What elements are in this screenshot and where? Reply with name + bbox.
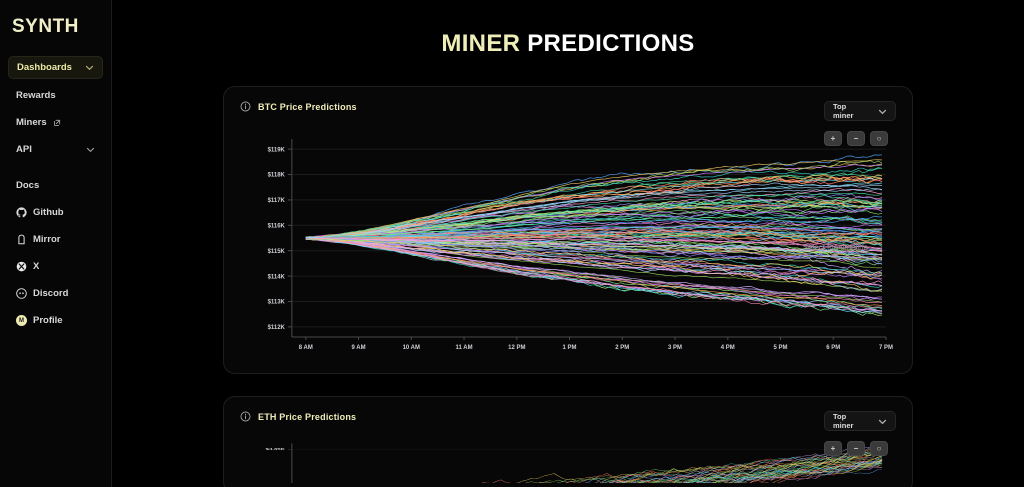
page-title-rest: PREDICTIONS: [527, 30, 694, 57]
discord-icon: [16, 288, 27, 299]
card-header: BTC Price Predictions Top miner: [240, 101, 896, 125]
svg-text:11 AM: 11 AM: [456, 345, 473, 351]
mirror-icon: [16, 234, 27, 245]
sidebar-item-label: Mirror: [33, 234, 60, 245]
svg-text:$114K: $114K: [268, 274, 286, 280]
github-icon: [16, 207, 27, 218]
card-title-eth: ETH Price Predictions: [240, 411, 356, 422]
svg-text:$118K: $118K: [268, 173, 286, 179]
page-title-accent: MINER: [441, 30, 520, 57]
card-title-btc: BTC Price Predictions: [240, 101, 357, 112]
zoom-in-button[interactable]: +: [824, 441, 842, 456]
chart-eth[interactable]: + − ○ $4.35K: [240, 441, 896, 483]
sidebar-item-rewards[interactable]: Rewards: [8, 85, 103, 106]
sidebar-item-dashboards[interactable]: Dashboards: [8, 56, 103, 79]
sidebar-item-label: Discord: [33, 288, 68, 299]
zoom-reset-button[interactable]: ○: [870, 131, 888, 146]
external-link-icon: [53, 119, 61, 127]
card-title-label: BTC Price Predictions: [258, 102, 357, 112]
miner-select-eth[interactable]: Top miner: [824, 411, 896, 431]
app-root: SYNTH Dashboards Rewards Miners API Docs: [0, 0, 1024, 487]
avatar: M: [16, 315, 27, 326]
svg-text:7 PM: 7 PM: [879, 345, 893, 351]
page-title: MINER PREDICTIONS: [112, 0, 1024, 58]
card-header: ETH Price Predictions Top miner: [240, 411, 896, 435]
sidebar: SYNTH Dashboards Rewards Miners API Docs: [0, 0, 112, 487]
card-btc-price-predictions: BTC Price Predictions Top miner + − ○ $1…: [223, 86, 913, 374]
miner-select-btc[interactable]: Top miner: [824, 101, 896, 121]
svg-text:3 PM: 3 PM: [668, 345, 682, 351]
sidebar-item-label: Github: [33, 207, 64, 218]
svg-text:$115K: $115K: [268, 249, 286, 255]
svg-text:12 PM: 12 PM: [508, 345, 525, 351]
sidebar-item-label: Dashboards: [17, 62, 72, 73]
svg-text:5 PM: 5 PM: [774, 345, 788, 351]
chevron-down-icon: [878, 417, 887, 426]
sidebar-item-github[interactable]: Github: [8, 202, 103, 223]
svg-text:9 AM: 9 AM: [352, 345, 366, 351]
svg-text:6 PM: 6 PM: [826, 345, 840, 351]
svg-text:1 PM: 1 PM: [563, 345, 577, 351]
miner-select-value: Top miner: [833, 102, 868, 120]
zoom-out-button[interactable]: −: [847, 441, 865, 456]
card-title-label: ETH Price Predictions: [258, 412, 356, 422]
sidebar-item-label: Docs: [16, 180, 39, 191]
svg-text:$112K: $112K: [268, 325, 286, 331]
svg-text:$119K: $119K: [268, 147, 286, 153]
sidebar-divider-gap: [8, 166, 103, 175]
chart-plot-area-eth[interactable]: $4.35K: [240, 441, 896, 483]
card-eth-price-predictions: ETH Price Predictions Top miner + − ○ $4…: [223, 396, 913, 487]
sidebar-item-discord[interactable]: Discord: [8, 283, 103, 304]
brand-logo[interactable]: SYNTH: [8, 14, 103, 38]
sidebar-item-docs[interactable]: Docs: [8, 175, 103, 196]
svg-text:8 AM: 8 AM: [299, 345, 313, 351]
chart-zoom-controls-eth: + − ○: [824, 441, 888, 456]
chart-zoom-controls-btc: + − ○: [824, 131, 888, 146]
svg-text:$4.35K: $4.35K: [266, 448, 286, 451]
svg-text:$113K: $113K: [268, 300, 286, 306]
chevron-down-icon: [86, 145, 95, 154]
sidebar-item-profile[interactable]: M Profile: [8, 310, 103, 331]
sidebar-item-mirror[interactable]: Mirror: [8, 229, 103, 250]
chart-btc[interactable]: + − ○ $119K$118K$117K$116K$115K$114K$113…: [240, 131, 896, 363]
info-icon[interactable]: [240, 101, 251, 112]
timeline-hint: Select the timeline: [803, 243, 868, 252]
sidebar-item-label: Profile: [33, 315, 63, 326]
chevron-down-icon: [85, 63, 94, 72]
info-icon[interactable]: [240, 411, 251, 422]
svg-text:4 PM: 4 PM: [721, 345, 735, 351]
chart-plot-area-btc[interactable]: $119K$118K$117K$116K$115K$114K$113K$112K…: [240, 131, 896, 363]
sidebar-item-label: X: [33, 261, 39, 272]
zoom-out-button[interactable]: −: [847, 131, 865, 146]
sidebar-item-api[interactable]: API: [8, 139, 103, 160]
zoom-in-button[interactable]: +: [824, 131, 842, 146]
zoom-reset-button[interactable]: ○: [870, 441, 888, 456]
miner-select-value: Top miner: [833, 412, 868, 430]
svg-text:$116K: $116K: [268, 224, 286, 230]
svg-text:10 AM: 10 AM: [403, 345, 420, 351]
sidebar-item-miners[interactable]: Miners: [8, 112, 103, 133]
main-content: MINER PREDICTIONS BTC Price Predictions …: [112, 0, 1024, 487]
sidebar-item-label: API: [16, 144, 32, 155]
chevron-down-icon: [878, 107, 887, 116]
svg-text:$117K: $117K: [268, 198, 286, 204]
x-icon: [16, 261, 27, 272]
svg-text:2 PM: 2 PM: [615, 345, 629, 351]
sidebar-item-label: Rewards: [16, 90, 56, 101]
sidebar-item-x[interactable]: X: [8, 256, 103, 277]
sidebar-item-label: Miners: [16, 117, 47, 128]
